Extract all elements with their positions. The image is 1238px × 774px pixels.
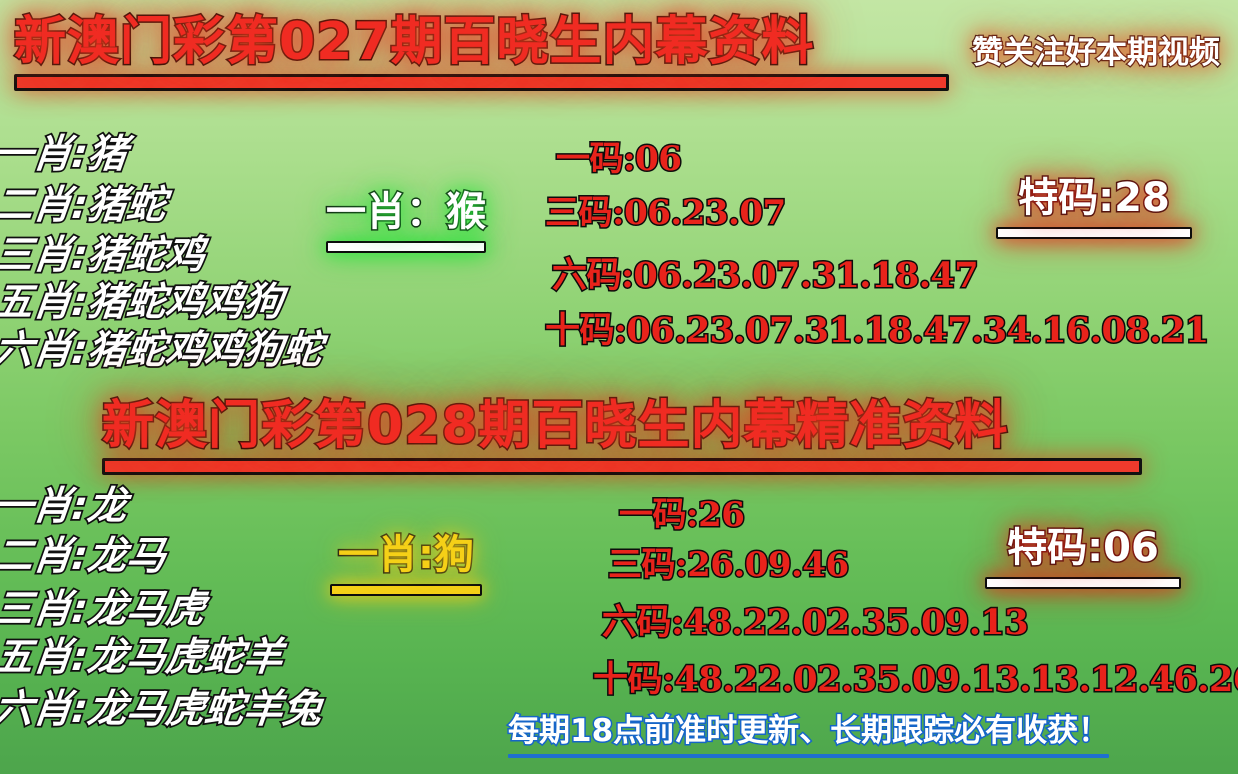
section-1-special-underline xyxy=(996,227,1192,239)
section-2-code-row-1: 一码:26 xyxy=(619,498,744,532)
section-1-code-value-4: 06.23.07.31.18.47.34.16.08.21 xyxy=(626,310,1208,351)
footer-block: 每期18点前准时更新、长期跟踪必有收获！ xyxy=(508,716,1109,758)
section-1-code-row-4: 十码:06.23.07.31.18.47.34.16.08.21 xyxy=(545,313,1209,348)
section-1-highlight-text: 一肖：猴 xyxy=(326,192,486,232)
section-2-highlight-pick: 一肖:狗 xyxy=(330,535,482,596)
section-2-special-text: 特码:06 xyxy=(985,528,1181,568)
section-2-code-row-3: 六码:48.22.02.35.09.13 xyxy=(602,605,1028,640)
section-1-code-value-2: 06.23.07 xyxy=(624,193,786,233)
section-2-code-value-1: 26 xyxy=(698,495,744,535)
section-2-code-row-4: 十码:48.22.02.35.09.13.13.12.46.26.03 xyxy=(593,662,1238,697)
section-1-title: 新澳门彩第027期百晓生内幕资料 xyxy=(14,16,949,68)
section-2-zodiac-line-2: 二肖:龙马 xyxy=(0,537,168,576)
section-1-zodiac-line-5: 六肖:猪蛇鸡鸡狗蛇 xyxy=(0,331,324,370)
section-2-zodiac-line-3: 三肖:龙马虎 xyxy=(0,590,207,629)
section-1-code-row-3: 六码:06.23.07.31.18.47 xyxy=(552,258,978,293)
section-1-code-label-4: 十码: xyxy=(545,310,626,351)
section-2-zodiac-line-5: 六肖:龙马虎蛇羊兔 xyxy=(0,690,324,729)
section-2-special-underline xyxy=(985,577,1181,589)
section-1-zodiac-line-3: 三肖:猪蛇鸡 xyxy=(0,236,207,275)
promo-text: 赞关注好本期视频 xyxy=(972,38,1220,69)
section-2-zodiac-line-4: 五肖:龙马虎蛇羊 xyxy=(0,638,285,677)
section-1-zodiac-line-1: 一肖:猪 xyxy=(0,135,129,174)
section-1-special-code: 特码:28 xyxy=(996,178,1192,239)
section-2-code-label-3: 六码: xyxy=(602,602,683,643)
section-2-title-underline xyxy=(102,458,1142,475)
section-1-highlight-pick: 一肖：猴 xyxy=(326,192,486,253)
section-2-zodiac-line-1: 一肖:龙 xyxy=(0,487,129,526)
section-1-highlight-underline xyxy=(326,241,486,253)
section-1-special-text: 特码:28 xyxy=(996,178,1192,218)
section-2-title-block: 新澳门彩第028期百晓生内幕精准资料 xyxy=(102,400,1142,475)
section-2-code-value-2: 26.09.46 xyxy=(687,545,849,585)
section-1-code-value-3: 06.23.07.31.18.47 xyxy=(633,255,978,296)
section-1-code-row-2: 三码:06.23.07 xyxy=(545,196,786,230)
section-2-code-label-1: 一码: xyxy=(619,495,698,535)
section-1-code-label-2: 三码: xyxy=(545,193,624,233)
section-1-code-label-1: 一码: xyxy=(556,139,635,179)
section-2-code-row-2: 三码:26.09.46 xyxy=(608,548,849,582)
section-1-zodiac-line-2: 二肖:猪蛇 xyxy=(0,186,168,225)
section-1-code-value-1: 06 xyxy=(635,139,681,179)
section-2-highlight-underline xyxy=(330,584,482,596)
section-1-code-label-3: 六码: xyxy=(552,255,633,296)
section-1-title-underline xyxy=(14,74,949,91)
section-2-special-code: 特码:06 xyxy=(985,528,1181,589)
footer-text: 每期18点前准时更新、长期跟踪必有收获！ xyxy=(508,716,1109,747)
poster-canvas: 新澳门彩第027期百晓生内幕资料 赞关注好本期视频 一肖:猪 二肖:猪蛇 三肖:… xyxy=(0,0,1238,774)
footer-underline xyxy=(508,754,1109,758)
section-2-highlight-text: 一肖:狗 xyxy=(330,535,482,575)
section-2-code-value-4: 48.22.02.35.09.13.13.12.46.26.03 xyxy=(674,659,1238,700)
section-2-code-label-4: 十码: xyxy=(593,659,674,700)
section-1-code-row-1: 一码:06 xyxy=(556,142,681,176)
section-1-zodiac-line-4: 五肖:猪蛇鸡鸡狗 xyxy=(0,283,285,322)
section-2-title: 新澳门彩第028期百晓生内幕精准资料 xyxy=(102,400,1142,452)
section-2-code-value-3: 48.22.02.35.09.13 xyxy=(683,602,1028,643)
section-2-code-label-2: 三码: xyxy=(608,545,687,585)
section-1-title-block: 新澳门彩第027期百晓生内幕资料 xyxy=(14,16,949,91)
